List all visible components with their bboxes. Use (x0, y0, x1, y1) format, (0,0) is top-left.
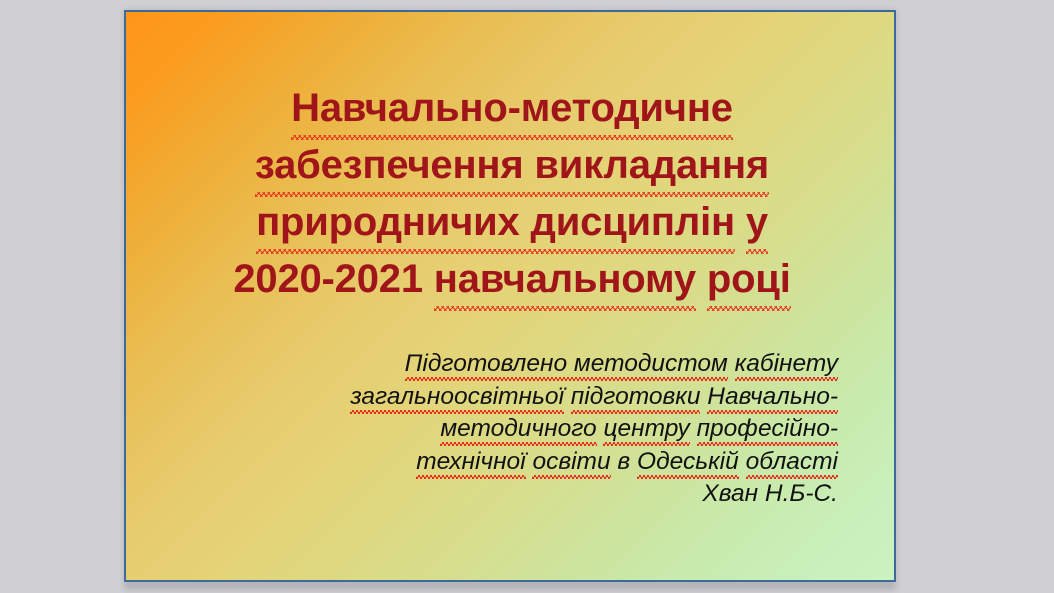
subtitle-text-run: загальноосвітньої (350, 381, 564, 414)
subtitle-text-run: кабінету (735, 348, 838, 381)
title-text-run: навчальному (434, 251, 696, 308)
subtitle-author-run: Хван Н.Б-С. (702, 480, 838, 507)
subtitle-text-run: методичного (440, 413, 596, 446)
title-text-run: забезпечення викладання (255, 137, 769, 194)
subtitle-text-run: освіти (532, 446, 610, 479)
subtitle-line-1: Підготовлено методистом кабінету (166, 348, 838, 381)
title-text-run: році (707, 251, 791, 308)
subtitle-line-4: технічної освіти в Одеській області (166, 446, 838, 479)
subtitle-text-run: професійно- (697, 413, 838, 446)
subtitle-text-run: Підготовлено методистом (405, 348, 728, 381)
subtitle-text-run: Одеській (637, 446, 739, 479)
title-text-run: у (746, 194, 768, 251)
title-line-4: 2020-2021 навчальному році (156, 251, 868, 308)
subtitle-text-run: Навчально- (707, 381, 838, 414)
title-text-run: Навчально-методичне (291, 80, 733, 137)
subtitle-line-3: методичного центру професійно- (166, 413, 838, 446)
title-line-1: Навчально-методичне (156, 80, 868, 137)
subtitle-line-5-author: Хван Н.Б-С. (166, 478, 838, 511)
title-line-3: природничих дисциплін у (156, 194, 868, 251)
slide-subtitle[interactable]: Підготовлено методистом кабінету загальн… (166, 348, 838, 511)
slide-title[interactable]: Навчально-методичне забезпечення виклада… (156, 80, 868, 308)
subtitle-text-run: центру (603, 413, 689, 446)
subtitle-line-2: загальноосвітньої підготовки Навчально- (166, 381, 838, 414)
title-text-run-year: 2020-2021 (233, 257, 423, 301)
subtitle-text-run: підготовки (571, 381, 701, 414)
subtitle-text-run: технічної (416, 446, 525, 479)
title-text-run: природничих дисциплін (256, 194, 735, 251)
subtitle-text-run: в (617, 448, 630, 475)
subtitle-text-run: області (746, 446, 838, 479)
presentation-slide[interactable]: Навчально-методичне забезпечення виклада… (124, 10, 896, 582)
title-line-2: забезпечення викладання (156, 137, 868, 194)
